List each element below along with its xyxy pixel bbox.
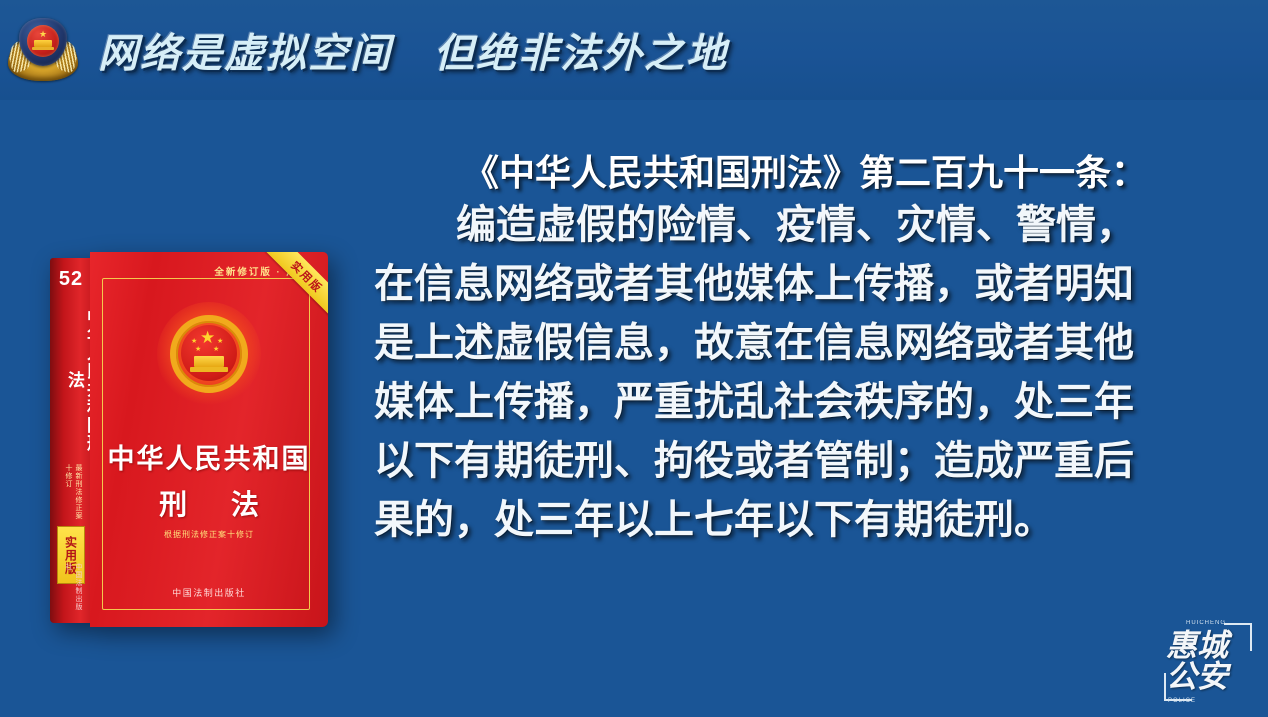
book-spine-subtitle: 最新刑法修正案十修订	[63, 464, 83, 522]
law-article-line: 是上述虚假信息，故意在信息网络或者其他	[374, 314, 1236, 373]
law-article-line: 以下有期徒刑、拘役或者管制；造成严重后	[374, 432, 1236, 491]
law-article-line: 果的，处三年以上七年以下有期徒刑。	[374, 491, 1236, 550]
china-national-emblem-icon: ★ ★ ★ ★ ★	[157, 302, 261, 406]
emblem-core: ★ ★ ★ ★ ★	[181, 325, 237, 381]
law-article-line: 在信息网络或者其他媒体上传播，或者明知	[374, 255, 1236, 314]
emblem-small-star: ★	[195, 346, 201, 353]
book-cover: 全新修订版 · 刑 法 实用版 ★ ★ ★ ★ ★	[90, 252, 328, 627]
emblem-big-star: ★	[200, 329, 215, 346]
china-police-badge-icon: ★	[6, 13, 80, 87]
slide-root: ★ 网络是虚拟空间 但绝非法外之地 52 中华人民共和国刑法 最新刑法修正案十修…	[0, 0, 1268, 717]
watermark-top-mini-text: HUICHENG	[1162, 620, 1250, 626]
law-article-line: 编造虚假的险情、疫情、灾情、警情，	[374, 196, 1236, 255]
huicheng-police-watermark: HUICHENG 惠城 公安 POLICE	[1162, 619, 1254, 705]
badge-disc: ★	[27, 25, 59, 57]
emblem-small-star: ★	[191, 338, 197, 345]
book-cover-title-line2: 刑 法	[90, 483, 328, 523]
law-article-block: 《中华人民共和国刑法》第二百九十一条： 编造虚假的险情、疫情、灾情、警情， 在信…	[374, 152, 1236, 550]
watermark-main-line1: 惠城	[1166, 631, 1250, 662]
watermark-main-text: 惠城 公安	[1166, 631, 1250, 693]
emblem-inner: ★ ★ ★ ★ ★	[170, 315, 248, 393]
book-cover-subtitle: 根据刑法修正案十修订	[90, 529, 328, 540]
book-spine-title: 中华人民共和国刑法	[61, 300, 92, 460]
emblem-small-star: ★	[213, 346, 219, 353]
book-spine-number: 52	[50, 268, 92, 291]
watermark-main-line2: 公安	[1166, 662, 1250, 693]
badge-star: ★	[39, 30, 47, 39]
criminal-law-book-image: 52 中华人民共和国刑法 最新刑法修正案十修订 实用版 中国法制出版社 全新修订…	[50, 252, 328, 627]
law-article-line: 媒体上传播，严重扰乱社会秩序的，处三年	[374, 373, 1236, 432]
law-article-heading: 《中华人民共和国刑法》第二百九十一条：	[374, 152, 1236, 196]
emblem-tiananmen	[194, 356, 224, 367]
book-spine-publisher: 中国法制出版社	[63, 563, 83, 615]
badge-gate	[34, 40, 52, 47]
watermark-bottom-mini-text: POLICE	[1168, 698, 1196, 704]
header-slogan: 网络是虚拟空间 但绝非法外之地	[98, 21, 728, 79]
book-spine: 52 中华人民共和国刑法 最新刑法修正案十修订 实用版 中国法制出版社	[50, 258, 92, 623]
book-cover-title-line1: 中华人民共和国	[90, 437, 328, 476]
book-cover-publisher: 中国法制出版社	[90, 586, 328, 599]
header-band: ★ 网络是虚拟空间 但绝非法外之地	[0, 0, 1268, 100]
emblem-small-star: ★	[217, 338, 223, 345]
